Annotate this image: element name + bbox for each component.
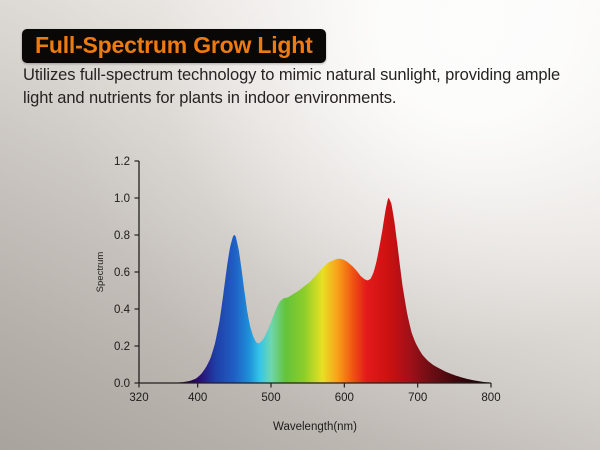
y-axis-title: Spectrum (95, 252, 106, 293)
x-tick-label: 600 (335, 392, 354, 404)
y-tick-label: 0.4 (114, 304, 131, 316)
y-tick-label: 0.0 (114, 378, 130, 390)
title-badge: Full-Spectrum Grow Light (22, 29, 326, 63)
x-axis-title: Wavelength(nm) (273, 421, 357, 433)
description-text: Utilizes full-spectrum technology to mim… (23, 64, 563, 109)
y-tick-label: 1.2 (114, 156, 130, 168)
plot-area (139, 198, 491, 383)
page-title: Full-Spectrum Grow Light (35, 32, 313, 58)
spectrum-chart: 320400500600700800 0.00.20.40.60.81.01.2… (78, 148, 538, 438)
slide-canvas: Full-Spectrum Grow Light Utilizes full-s… (0, 0, 600, 450)
y-tick-label: 0.6 (114, 267, 130, 279)
y-tick-label: 1.0 (114, 193, 130, 205)
y-tick-label: 0.8 (114, 230, 130, 242)
x-tick-label: 400 (188, 392, 207, 404)
y-axis-ticks: 0.00.20.40.60.81.01.2 (114, 156, 139, 390)
x-tick-label: 320 (129, 392, 148, 404)
y-tick-label: 0.2 (114, 341, 130, 353)
x-tick-label: 700 (408, 392, 427, 404)
x-axis-ticks: 320400500600700800 (129, 383, 500, 404)
x-tick-label: 800 (481, 392, 500, 404)
x-tick-label: 500 (261, 392, 280, 404)
spectrum-area-path (139, 198, 491, 383)
chart-svg: 320400500600700800 0.00.20.40.60.81.01.2… (78, 148, 538, 438)
